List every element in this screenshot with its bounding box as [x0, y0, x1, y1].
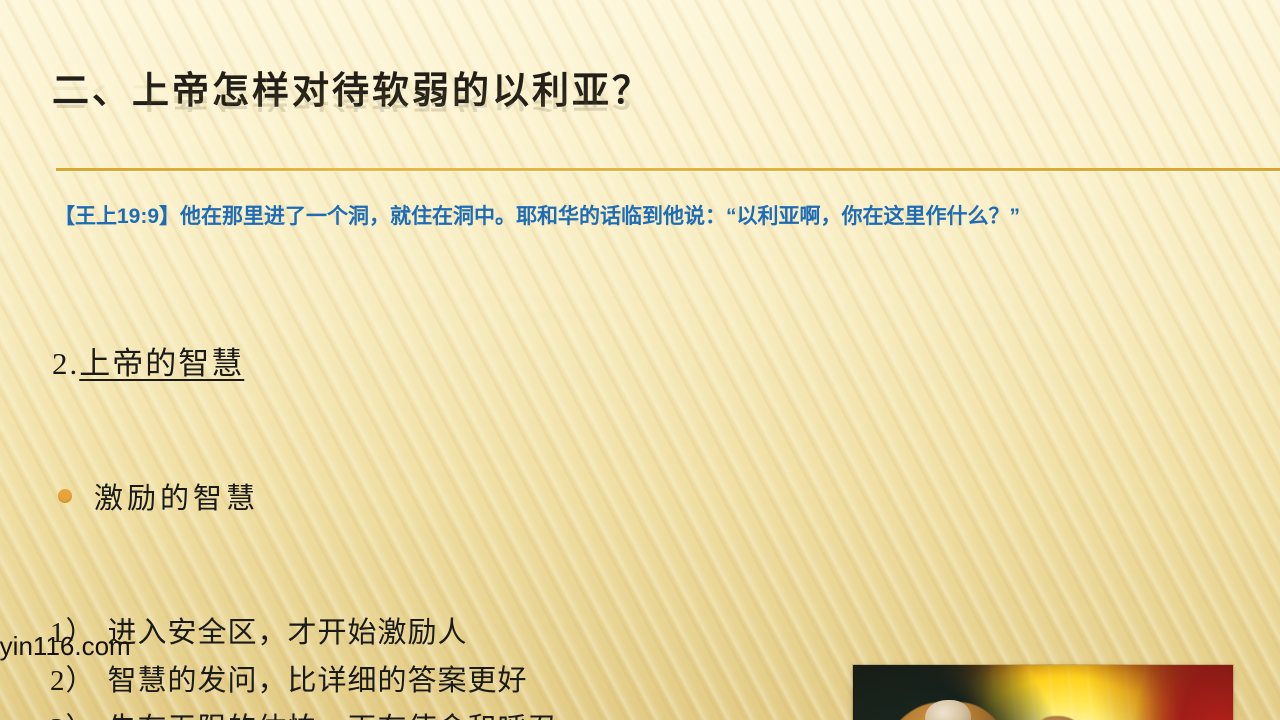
subheading-number: 2. [52, 346, 79, 381]
slide-title-block: 二、上帝怎样对待软弱的以利亚？ 二、上帝怎样对待软弱的以利亚？ [52, 72, 852, 132]
title-divider-line [56, 168, 1280, 171]
list-item: 2）智慧的发问，比详细的答案更好 [50, 657, 830, 705]
illustration-vignette [853, 665, 1233, 720]
numbered-list: 1）进入安全区，才开始激励人 2）智慧的发问，比详细的答案更好 3）先有无限的体… [50, 609, 830, 720]
disc-bullet-row: 激励的智慧 [58, 475, 1280, 517]
disc-bullet-label: 激励的智慧 [94, 475, 259, 517]
list-item-index: 2） [50, 665, 96, 697]
disc-bullet-icon [58, 489, 72, 503]
subheading-text: 上帝的智慧 [79, 346, 244, 381]
subheading: 2.上帝的智慧 [52, 338, 1280, 383]
list-item-text: 智慧的发问，比详细的答案更好 [108, 665, 528, 697]
slide-title: 二、上帝怎样对待软弱的以利亚？ [52, 72, 852, 112]
presentation-slide: 二、上帝怎样对待软弱的以利亚？ 二、上帝怎样对待软弱的以利亚？ 【王上19:9】… [0, 0, 1280, 720]
list-item-text: 先有无限的体恤，再有使命和呼召 [108, 713, 558, 720]
scripture-verse: 【王上19:9】他在那里进了一个洞，就住在洞中。耶和华的话临到他说：“以利亚啊，… [54, 203, 1250, 230]
list-item-index: 3） [50, 713, 96, 720]
site-watermark: fuyin116.com [0, 631, 1258, 662]
slide-illustration [853, 665, 1233, 720]
list-item: 3）先有无限的体恤，再有使命和呼召 [50, 705, 830, 720]
